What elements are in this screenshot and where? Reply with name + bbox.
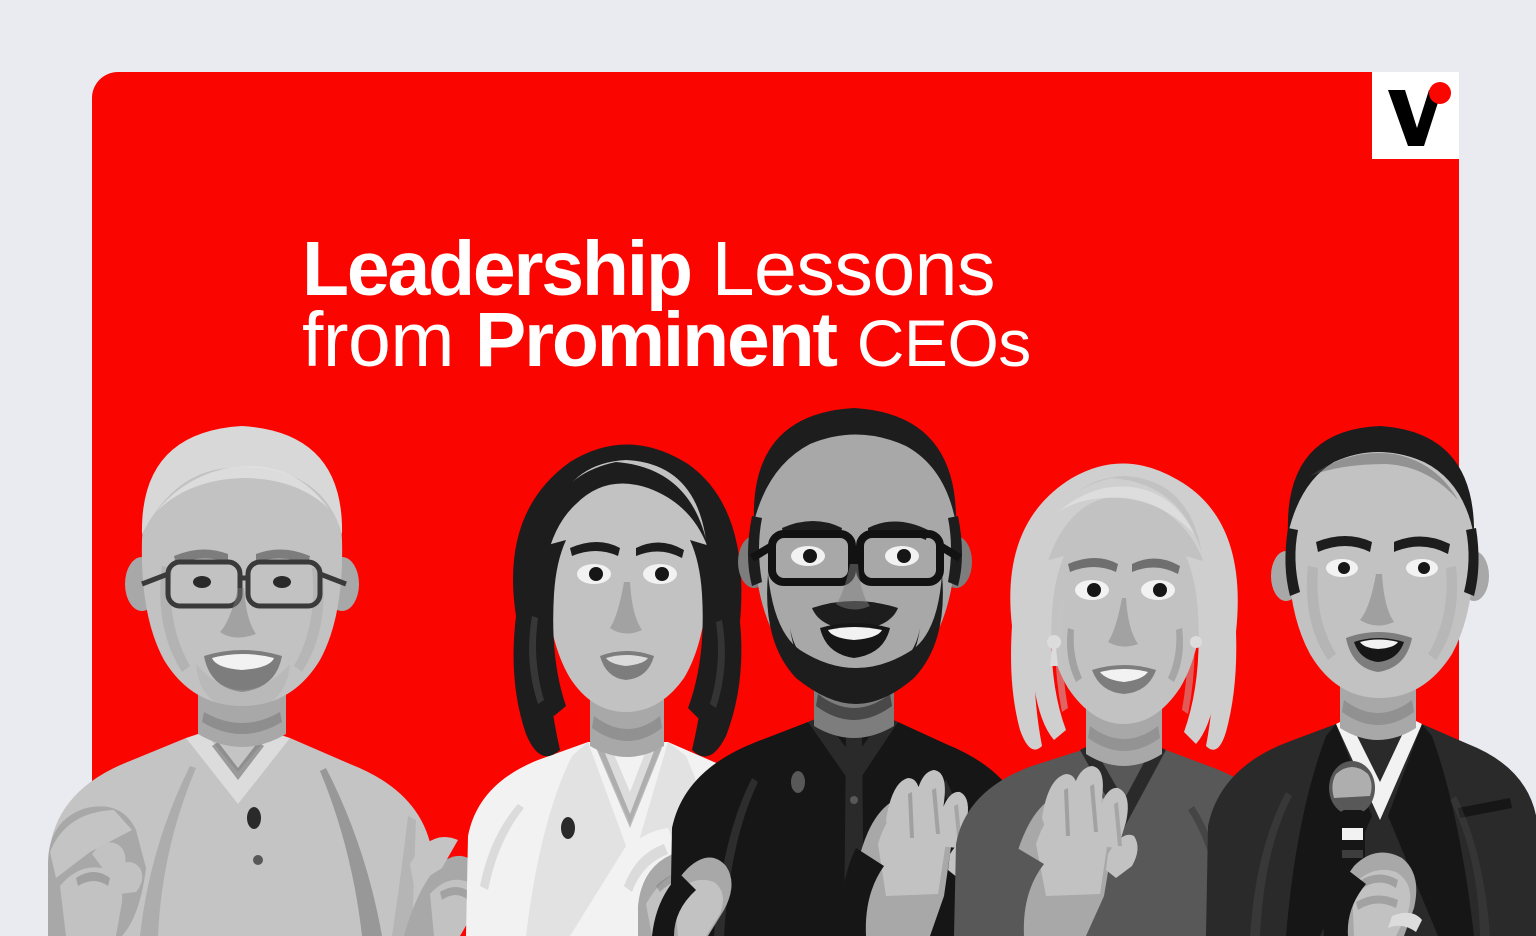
logo-tile[interactable]	[1372, 72, 1459, 159]
title-line-1: Leadership Lessons	[302, 232, 1031, 307]
title-word-from: from	[302, 297, 454, 383]
banner-card: Leadership Lessons from Prominent CEOs	[92, 72, 1459, 936]
logo-red-dot	[1429, 82, 1451, 104]
title-word-prominent: Prominent	[475, 297, 836, 383]
page-title: Leadership Lessons from Prominent CEOs	[302, 232, 1031, 377]
title-line-2: from Prominent CEOs	[302, 303, 1031, 378]
title-word-ceos: CEOs	[857, 306, 1031, 380]
